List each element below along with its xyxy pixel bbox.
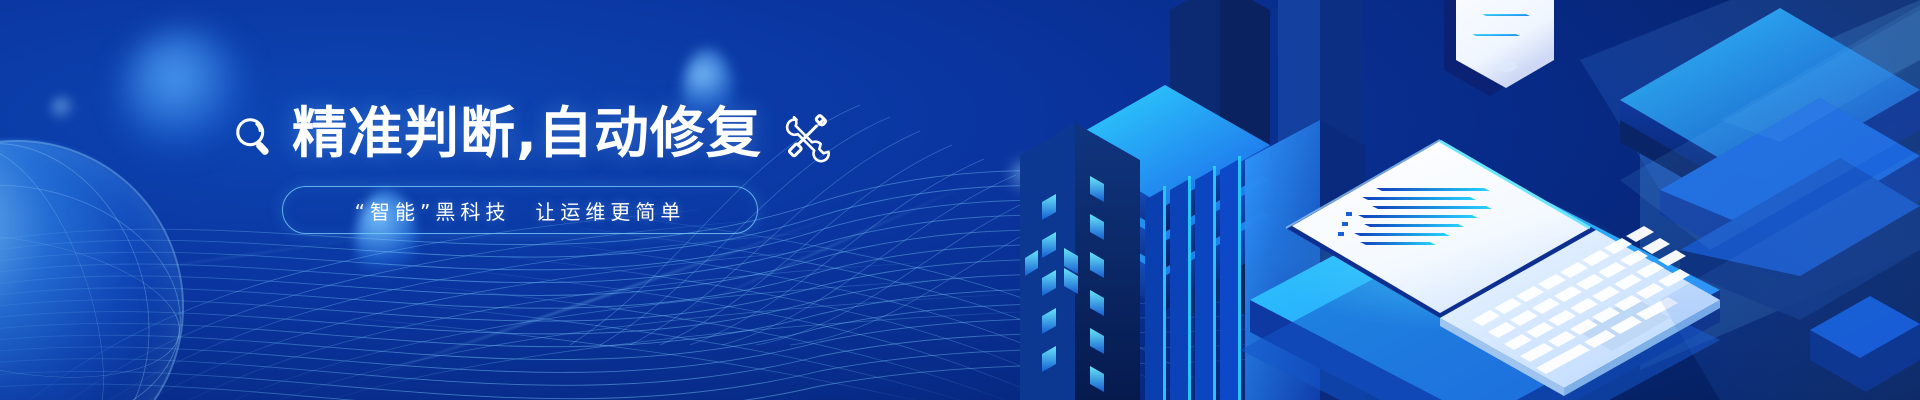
subtitle-pill: “智能”黑科技 让运维更简单: [282, 186, 758, 234]
page-title: 精准判断,自动修复: [292, 103, 762, 163]
headline-row: 精准判断,自动修复: [232, 96, 1052, 170]
magnifier-icon: [232, 114, 278, 160]
light-streak: [91, 234, 388, 278]
tech-banner: 精准判断,自动修复 “智能”黑科技 让运维更简单: [0, 0, 1920, 400]
subtitle-text: “智能”黑科技 让运维更简单: [355, 196, 686, 225]
headline-block: 精准判断,自动修复: [232, 96, 1052, 170]
wrench-screwdriver-icon: [780, 113, 832, 165]
isometric-illustration: [1020, 0, 1920, 400]
light-streak: [344, 215, 836, 386]
